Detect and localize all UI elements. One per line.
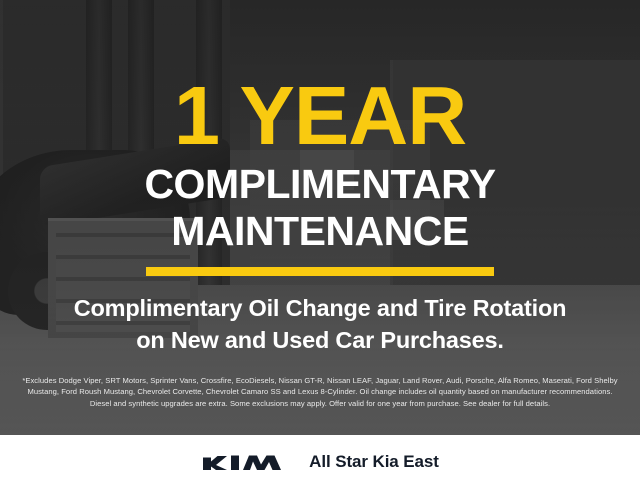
- offer-tagline-line-2: on New and Used Car Purchases.: [20, 325, 620, 356]
- dealer-footer-bar: All Star Kia East: [0, 435, 640, 488]
- ad-content: 1 YEAR COMPLIMENTARY MAINTENANCE Complim…: [0, 0, 640, 435]
- promotional-ad-banner: 1 YEAR COMPLIMENTARY MAINTENANCE Complim…: [0, 0, 640, 488]
- dealer-name: All Star Kia East: [309, 452, 439, 472]
- headline-one-year: 1 YEAR: [174, 78, 466, 154]
- disclaimer-line-2: Mustang, Ford Roush Mustang, Chevrolet C…: [12, 386, 628, 398]
- disclaimer-line-3: Diesel and synthetic upgrades are extra.…: [12, 398, 628, 410]
- subhead-maintenance: MAINTENANCE: [171, 211, 468, 252]
- yellow-divider-rule: [146, 267, 494, 276]
- offer-tagline: Complimentary Oil Change and Tire Rotati…: [20, 293, 620, 356]
- legal-disclaimer: *Excludes Dodge Viper, SRT Motors, Sprin…: [12, 375, 628, 410]
- offer-tagline-line-1: Complimentary Oil Change and Tire Rotati…: [20, 293, 620, 324]
- disclaimer-line-1: *Excludes Dodge Viper, SRT Motors, Sprin…: [12, 375, 628, 387]
- subhead-complimentary: COMPLIMENTARY: [144, 164, 495, 205]
- kia-logo: [201, 451, 287, 473]
